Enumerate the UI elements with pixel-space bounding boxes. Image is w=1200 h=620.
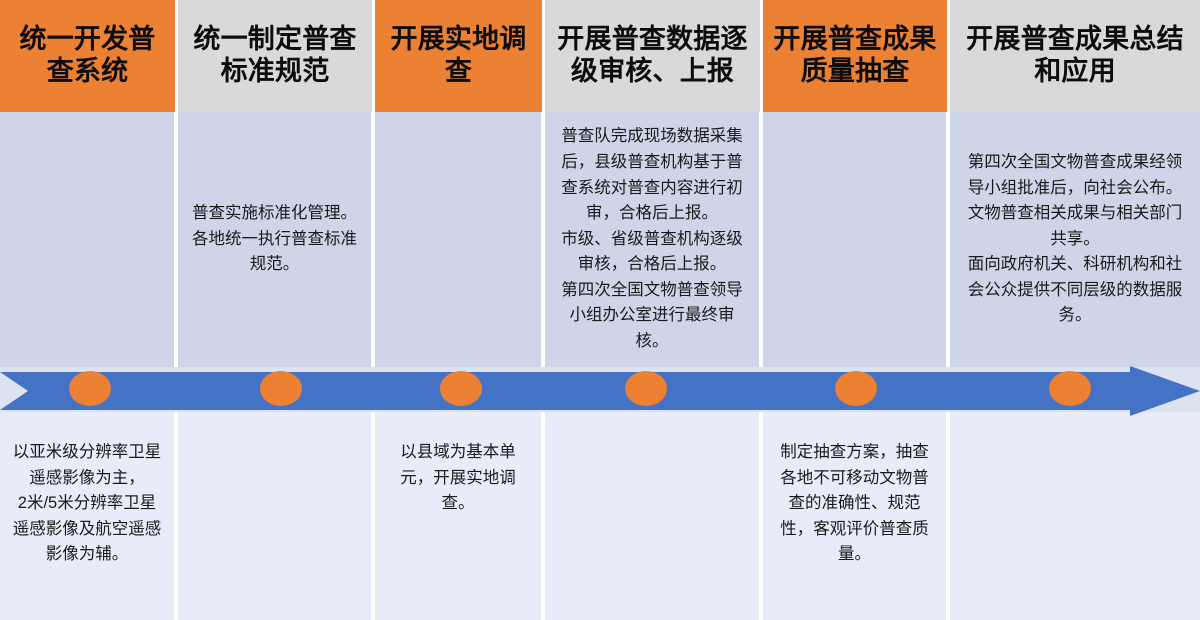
- timeline-node-1[interactable]: [69, 371, 111, 406]
- lower-cell-6: [950, 412, 1200, 620]
- upper-cell-3: [375, 112, 545, 367]
- upper-cell-text: 第四次全国文物普查成果经领导小组批准后，向社会公布。 文物普查相关成果与相关部门…: [960, 150, 1190, 329]
- lower-cell-text: [555, 418, 749, 440]
- lower-cell-text: 制定抽查方案，抽查各地不可移动文物普查的准确性、规范性，客观评价普查质量。: [773, 418, 936, 568]
- lower-cell-3: 以县域为基本单元，开展实地调查。: [375, 412, 545, 620]
- upper-cell-5: [763, 112, 950, 367]
- stage-header-label: 开展实地调查: [381, 24, 536, 88]
- stage-header-6[interactable]: 开展普查成果总结和应用: [950, 0, 1200, 112]
- stage-header-label: 开展普查成果质量抽查: [769, 24, 941, 88]
- stage-header-band: 统一开发普查系统 统一制定普查标准规范 开展实地调查 开展普查数据逐级审核、上报…: [0, 0, 1200, 112]
- stage-header-2[interactable]: 统一制定普查标准规范: [178, 0, 375, 112]
- lower-cell-4: [545, 412, 763, 620]
- lower-cell-text: 以亚米级分辨率卫星遥感影像为主， 2米/5米分辨率卫星遥感影像及航空遥感影像为辅…: [10, 418, 164, 568]
- upper-cell-6: 第四次全国文物普查成果经领导小组批准后，向社会公布。 文物普查相关成果与相关部门…: [950, 112, 1200, 367]
- lower-cell-text: [188, 418, 361, 440]
- timeline-track-background: [0, 367, 1200, 412]
- stage-header-label: 开展普查成果总结和应用: [956, 24, 1194, 88]
- upper-description-band: 普查实施标准化管理。 各地统一执行普查标准规范。 普查队完成现场数据采集后，县级…: [0, 112, 1200, 367]
- stage-header-5[interactable]: 开展普查成果质量抽查: [763, 0, 950, 112]
- upper-cell-4: 普查队完成现场数据采集后，县级普查机构基于普查系统对普查内容进行初审，合格后上报…: [545, 112, 763, 367]
- upper-cell-text: 普查队完成现场数据采集后，县级普查机构基于普查系统对普查内容进行初审，合格后上报…: [555, 124, 749, 354]
- stage-header-4[interactable]: 开展普查数据逐级审核、上报: [545, 0, 763, 112]
- timeline-node-4[interactable]: [625, 371, 667, 406]
- upper-cell-2: 普查实施标准化管理。 各地统一执行普查标准规范。: [178, 112, 375, 367]
- stage-header-label: 统一开发普查系统: [6, 24, 169, 88]
- lower-cell-2: [178, 412, 375, 620]
- timeline-node-2[interactable]: [260, 371, 302, 406]
- lower-description-band: 以亚米级分辨率卫星遥感影像为主， 2米/5米分辨率卫星遥感影像及航空遥感影像为辅…: [0, 412, 1200, 620]
- timeline-node-6[interactable]: [1049, 371, 1091, 406]
- upper-cell-text: 普查实施标准化管理。 各地统一执行普查标准规范。: [188, 201, 361, 278]
- upper-cell-1: [0, 112, 178, 367]
- stage-header-label: 开展普查数据逐级审核、上报: [551, 24, 754, 88]
- stage-header-3[interactable]: 开展实地调查: [375, 0, 545, 112]
- lower-cell-5: 制定抽查方案，抽查各地不可移动文物普查的准确性、规范性，客观评价普查质量。: [763, 412, 950, 620]
- lower-cell-1: 以亚米级分辨率卫星遥感影像为主， 2米/5米分辨率卫星遥感影像及航空遥感影像为辅…: [0, 412, 178, 620]
- lower-cell-text: 以县域为基本单元，开展实地调查。: [385, 418, 531, 517]
- stage-header-label: 统一制定普查标准规范: [184, 24, 366, 88]
- lower-cell-text: [960, 418, 1190, 440]
- timeline-node-5[interactable]: [835, 371, 877, 406]
- timeline-node-3[interactable]: [440, 371, 482, 406]
- stage-header-1[interactable]: 统一开发普查系统: [0, 0, 178, 112]
- process-timeline-diagram: 统一开发普查系统 统一制定普查标准规范 开展实地调查 开展普查数据逐级审核、上报…: [0, 0, 1200, 620]
